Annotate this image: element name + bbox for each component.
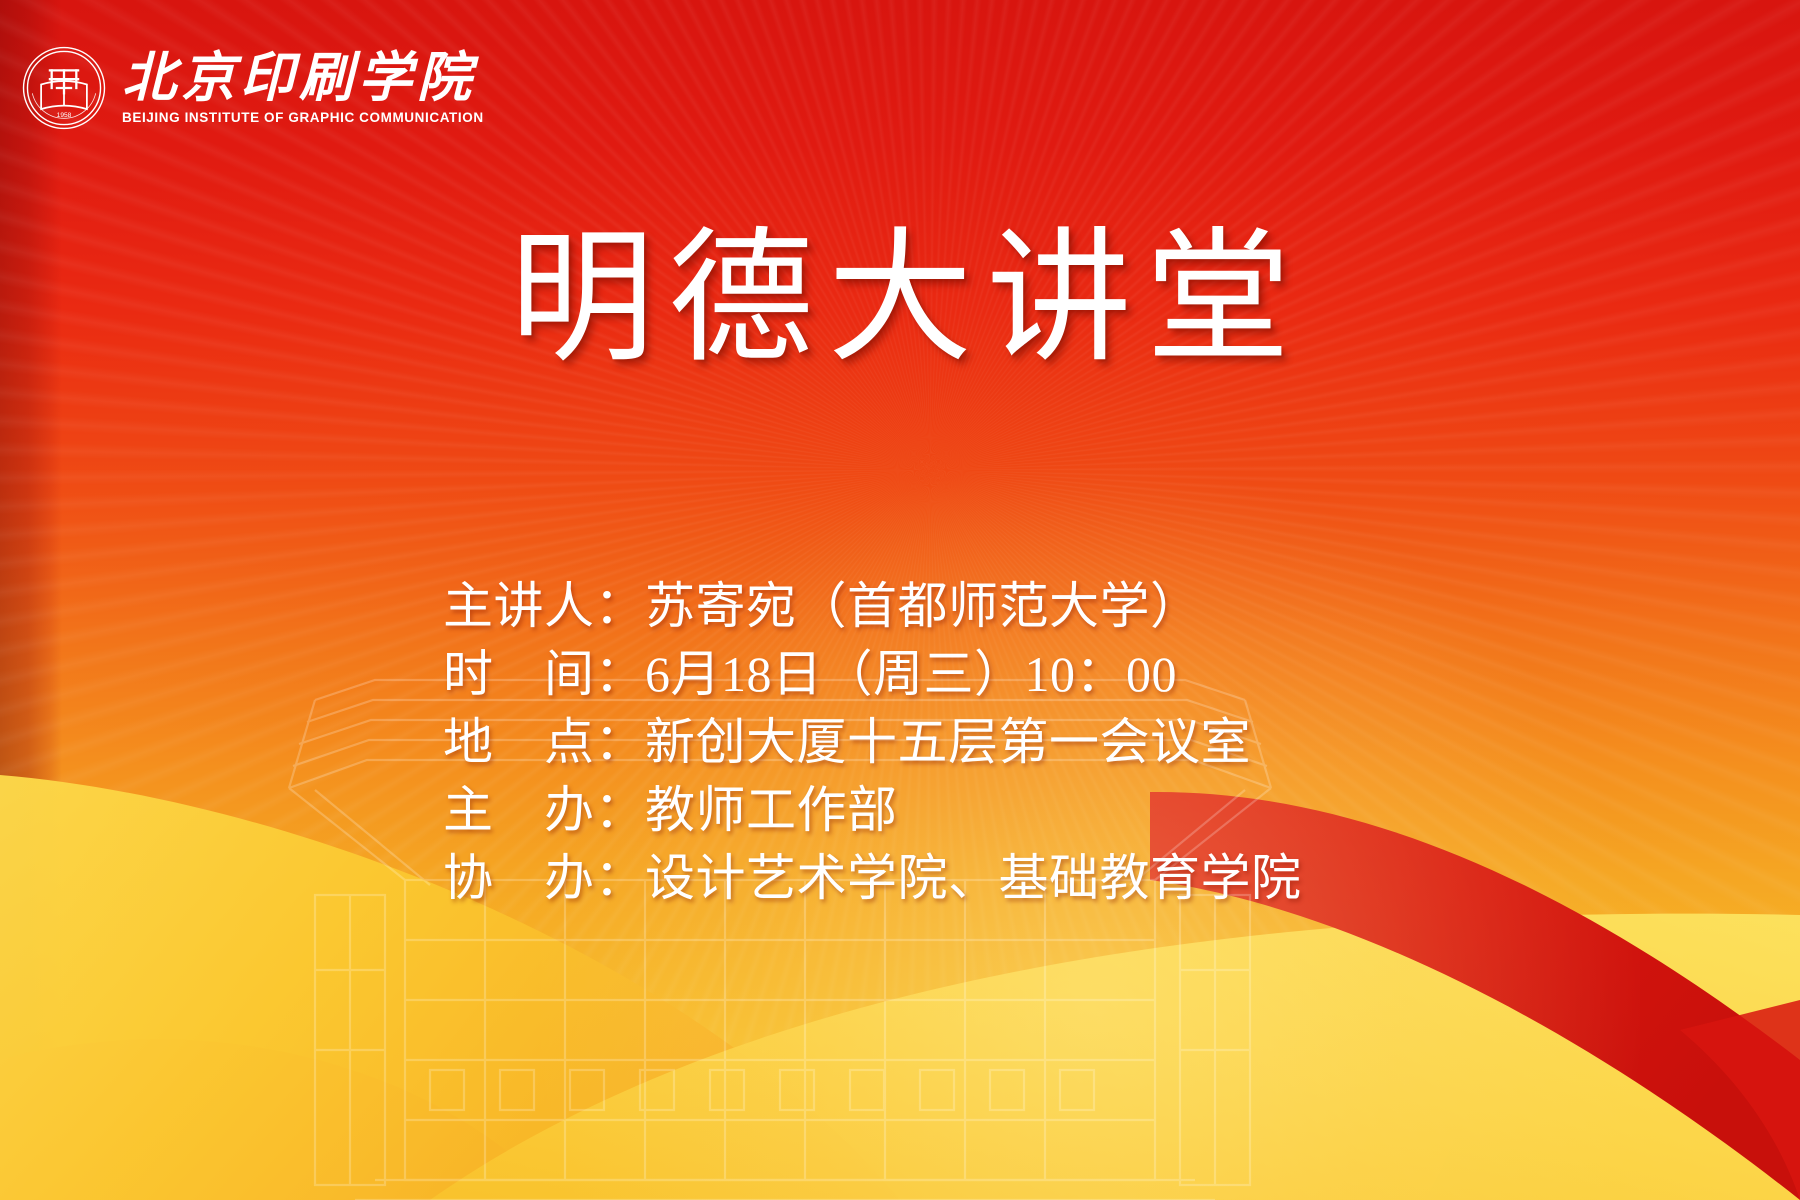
institution-wordmark: 北京印刷学院 BEIJING INSTITUTE OF GRAPHIC COMM… xyxy=(122,50,484,127)
poster-canvas: 1958 北京印刷学院 BEIJING INSTITUTE OF GRAPHIC… xyxy=(0,0,1800,1200)
event-details: 主讲人：苏寄宛（首都师范大学） 时 间：6月18日（周三）10：00 地 点：新… xyxy=(443,572,1302,912)
detail-row-coorganizer: 协 办：设计艺术学院、基础教育学院 xyxy=(443,844,1302,912)
detail-row-time: 时 间：6月18日（周三）10：00 xyxy=(443,640,1302,708)
university-crest-icon: 1958 xyxy=(20,44,108,132)
institution-logo: 1958 北京印刷学院 BEIJING INSTITUTE OF GRAPHIC… xyxy=(20,44,484,132)
detail-row-speaker: 主讲人：苏寄宛（首都师范大学） xyxy=(443,572,1302,640)
detail-row-location: 地 点：新创大厦十五层第一会议室 xyxy=(443,708,1302,776)
institution-name-cn: 北京印刷学院 xyxy=(122,50,484,107)
poster-title: 明德大讲堂 xyxy=(0,228,1800,373)
detail-row-organizer: 主 办：教师工作部 xyxy=(443,776,1302,844)
institution-name-en: BEIJING INSTITUTE OF GRAPHIC COMMUNICATI… xyxy=(122,111,484,126)
left-edge-shade xyxy=(0,0,62,1200)
